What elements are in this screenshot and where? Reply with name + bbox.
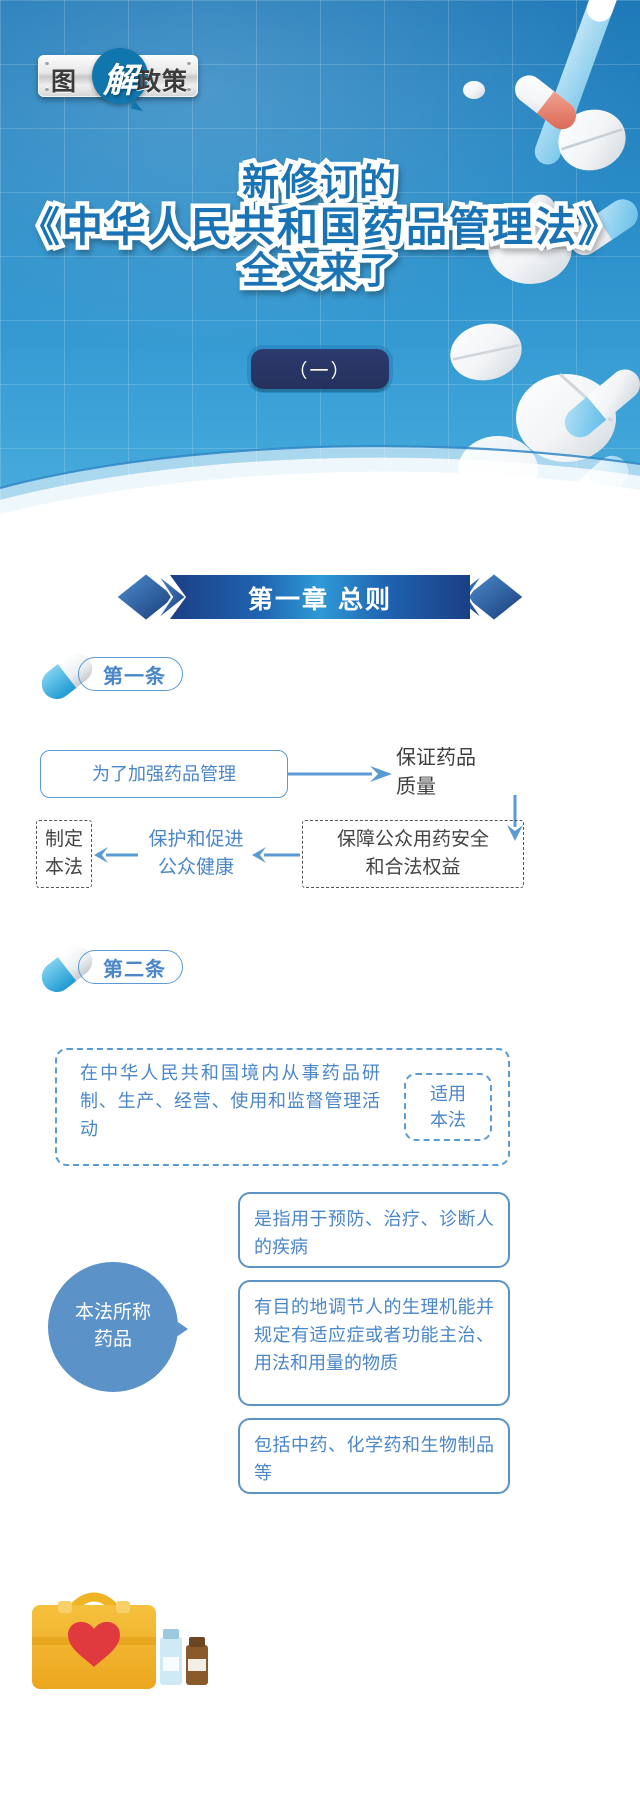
article1-goal-2-box: 保障公众用药安全 和合法权益: [302, 820, 524, 888]
circle-line-1: 本法所称: [75, 1300, 151, 1327]
page-title: 新修订的 《中华人民共和国药品管理法》 全文来了: [0, 163, 640, 291]
definition-box-3: 包括中药、化学药和生物制品等: [238, 1418, 510, 1494]
definition-box-2: 有目的地调节人的生理机能并规定有适应症或者功能主治、用法和用量的物质: [238, 1280, 510, 1406]
article1-goal-2-line1: 保障公众用药安全: [337, 826, 489, 854]
circle-line-2: 药品: [94, 1327, 132, 1354]
chapter-banner: 第一章 总则: [0, 567, 640, 627]
chapter-label: 第一章 总则: [248, 585, 392, 614]
article-1-label: 第一条: [103, 660, 166, 689]
article2-scope-text: 在中华人民共和国境内从事药品研制、生产、经营、使用和监督管理活动: [80, 1060, 380, 1154]
article1-result-line1: 制定: [45, 826, 83, 854]
article1-goal-2-line2: 和合法权益: [365, 854, 460, 882]
article-1-chip: 第一条: [78, 657, 183, 691]
circle-pointer-icon: [172, 1318, 188, 1340]
logo-badge[interactable]: 图 解 政策: [38, 55, 198, 97]
article1-purpose-text: 为了加强药品管理: [92, 761, 236, 787]
article1-result-box: 制定 本法: [36, 820, 92, 888]
article1-purpose-box: 为了加强药品管理: [40, 750, 288, 798]
screw-icon: [45, 87, 49, 91]
drug-definition-circle: 本法所称 药品: [48, 1262, 178, 1392]
title-line-3: 全文来了: [0, 251, 640, 291]
logo-text-tu: 图: [51, 62, 77, 98]
article1-goal-1-line1: 保证药品: [396, 744, 476, 773]
part-number-label: （一）: [251, 349, 389, 389]
part-number-badge: （一）: [251, 349, 389, 389]
article2-apply-line2: 本法: [430, 1107, 466, 1133]
wave-divider: [0, 430, 640, 560]
article1-goal-3-line2: 公众健康: [158, 854, 234, 882]
article1-goal-3: 保护和促进 公众健康: [138, 820, 254, 888]
arrow-right-icon: [288, 764, 392, 784]
title-line-1: 新修订的: [0, 163, 640, 203]
medical-kit-icon: [18, 1575, 218, 1725]
article2-apply-line1: 适用: [430, 1081, 466, 1107]
article-2-chip: 第二条: [78, 950, 183, 984]
hero-banner: 图 解 政策 新修订的 《中华人民共和国药品管理法》 全文来了 （一）: [0, 0, 640, 560]
article1-goal-1-line2: 质量: [396, 773, 436, 802]
article2-apply-box: 适用 本法: [404, 1073, 492, 1141]
article-1-tag: 第一条: [38, 657, 208, 697]
definition-box-1: 是指用于预防、治疗、诊断人的疾病: [238, 1192, 510, 1268]
title-line-2: 《中华人民共和国药品管理法》: [0, 205, 640, 249]
article1-result-line2: 本法: [45, 854, 83, 882]
article-2-tag: 第二条: [38, 950, 208, 990]
arrow-left-icon: [94, 845, 138, 865]
screw-icon: [45, 61, 49, 65]
article1-goal-3-line1: 保护和促进: [148, 826, 243, 854]
arrow-left-icon: [252, 845, 300, 865]
article-2-label: 第二条: [103, 953, 166, 982]
logo-text-jie: 解: [94, 53, 146, 102]
